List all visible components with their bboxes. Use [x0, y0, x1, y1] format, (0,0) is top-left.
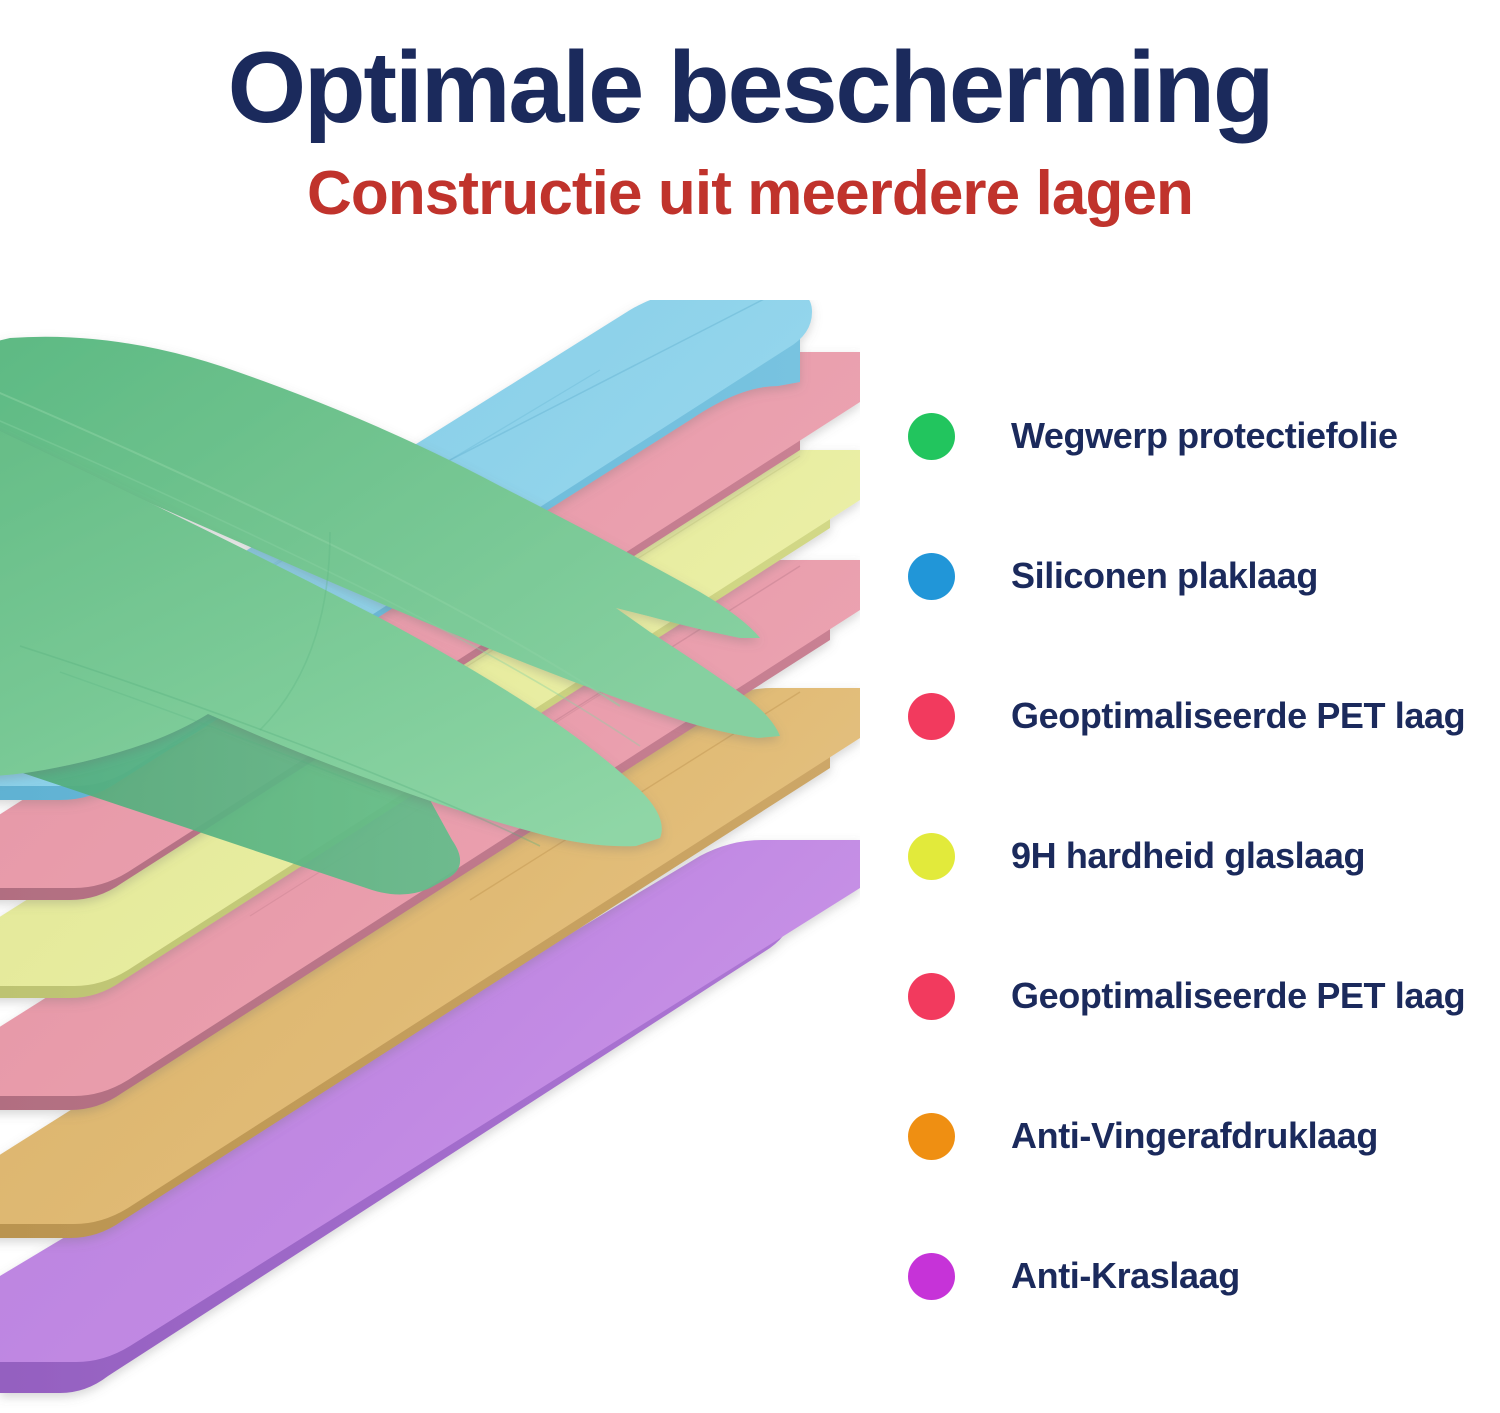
circle-dot-icon — [908, 693, 955, 740]
circle-dot-icon — [908, 1253, 955, 1300]
legend-item-pet-laag-boven[interactable]: Geoptimaliseerde PET laag — [908, 646, 1488, 786]
page-title: Optimale bescherming — [0, 34, 1500, 143]
legend-item-label: Anti-Vingerafdruklaag — [1011, 1115, 1378, 1157]
legend-item-label: Wegwerp protectiefolie — [1011, 415, 1398, 457]
layer-stack-svg — [0, 300, 860, 1413]
circle-dot-icon — [908, 553, 955, 600]
legend-item-siliconen-plaklaag[interactable]: Siliconen plaklaag — [908, 506, 1488, 646]
legend-item-label: Siliconen plaklaag — [1011, 555, 1318, 597]
legend-item-label: Anti-Kraslaag — [1011, 1255, 1240, 1297]
legend-item-pet-laag-onder[interactable]: Geoptimaliseerde PET laag — [908, 926, 1488, 1066]
circle-dot-icon — [908, 973, 955, 1020]
circle-dot-icon — [908, 413, 955, 460]
legend-item-label: Geoptimaliseerde PET laag — [1011, 695, 1465, 737]
legend-item-9h-hardheid-glaslaag[interactable]: 9H hardheid glaslaag — [908, 786, 1488, 926]
legend: Wegwerp protectiefolie Siliconen plaklaa… — [908, 366, 1488, 1346]
legend-item-label: Geoptimaliseerde PET laag — [1011, 975, 1465, 1017]
header: Optimale bescherming Constructie uit mee… — [0, 0, 1500, 229]
layer-stack-illustration — [0, 300, 860, 1413]
infographic-page: Optimale bescherming Constructie uit mee… — [0, 0, 1500, 1413]
legend-item-label: 9H hardheid glaslaag — [1011, 835, 1365, 877]
legend-item-anti-kraslaag[interactable]: Anti-Kraslaag — [908, 1206, 1488, 1346]
circle-dot-icon — [908, 1113, 955, 1160]
legend-item-wegwerp-protectiefolie[interactable]: Wegwerp protectiefolie — [908, 366, 1488, 506]
circle-dot-icon — [908, 833, 955, 880]
page-subtitle: Constructie uit meerdere lagen — [0, 159, 1500, 228]
legend-item-anti-vingerafdruklaag[interactable]: Anti-Vingerafdruklaag — [908, 1066, 1488, 1206]
